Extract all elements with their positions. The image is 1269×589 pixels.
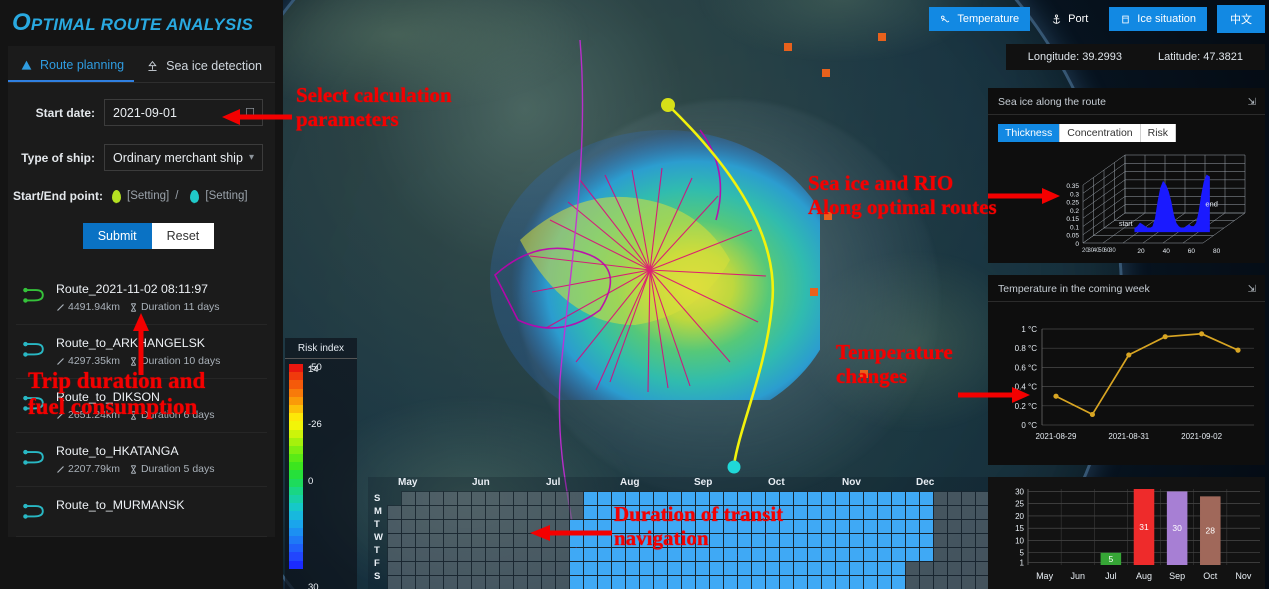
calendar-day-cell[interactable]	[766, 576, 779, 589]
calendar-day-cell[interactable]	[808, 492, 821, 505]
calendar-day-cell[interactable]	[822, 506, 835, 519]
calendar-day-cell[interactable]	[850, 576, 863, 589]
calendar-day-cell[interactable]	[500, 548, 513, 561]
route-name: Route_to_MURMANSK	[56, 498, 261, 512]
calendar-day-cell[interactable]	[500, 576, 513, 589]
calendar-day-cell[interactable]	[836, 492, 849, 505]
calendar-day-cell[interactable]	[528, 492, 541, 505]
calendar-day-cell[interactable]	[878, 548, 891, 561]
calendar-day-cell[interactable]	[696, 576, 709, 589]
risk-color-swatch	[289, 520, 303, 528]
calendar-day-cell[interactable]	[864, 576, 877, 589]
ship-type-value: Ordinary merchant ship	[113, 151, 243, 165]
calendar-day-cell[interactable]	[542, 506, 555, 519]
calendar-day-cell[interactable]	[416, 576, 429, 589]
toolbar-temperature-label: Temperature	[957, 13, 1019, 25]
calendar-day-cell[interactable]	[794, 492, 807, 505]
risk-color-swatch	[289, 364, 303, 372]
calendar-day-cell[interactable]	[626, 562, 639, 575]
calendar-day-cell[interactable]	[878, 520, 891, 533]
calendar-day-cell[interactable]	[514, 548, 527, 561]
calendar-day-cell[interactable]	[388, 562, 401, 575]
calendar-day-cell[interactable]	[892, 548, 905, 561]
calendar-day-cell[interactable]	[948, 534, 961, 547]
calendar-day-cell[interactable]	[794, 576, 807, 589]
calendar-day-cell[interactable]	[794, 548, 807, 561]
route-duration: Duration 11 days	[129, 301, 220, 313]
calendar-day-cell[interactable]	[906, 576, 919, 589]
risk-index-legend: Risk index -50 -26 0 14 30	[285, 338, 357, 589]
calendar-day-cell[interactable]	[654, 576, 667, 589]
calendar-day-cell[interactable]	[920, 548, 933, 561]
calendar-day-cell[interactable]	[514, 576, 527, 589]
route-meta: 4491.94kmDuration 11 days	[56, 301, 261, 313]
calendar-day-cell[interactable]	[514, 520, 527, 533]
seg-thickness[interactable]: Thickness	[998, 124, 1060, 142]
calendar-day-cell[interactable]	[878, 506, 891, 519]
annotation-select-parameters-line1: Select calculation	[296, 84, 452, 108]
svg-text:1 °C: 1 °C	[1021, 325, 1037, 334]
calendar-day-cell[interactable]	[514, 562, 527, 575]
seg-risk[interactable]: Risk	[1141, 124, 1176, 142]
calendar-day-cell[interactable]	[850, 506, 863, 519]
calendar-day-cell[interactable]	[794, 520, 807, 533]
calendar-weekday-label: T	[374, 544, 388, 557]
calendar-day-cell[interactable]	[710, 562, 723, 575]
risk-color-swatch	[289, 503, 303, 511]
svg-text:Nov: Nov	[1235, 571, 1252, 581]
calendar-day-cell[interactable]	[556, 576, 569, 589]
calendar-day-cell[interactable]	[934, 534, 947, 547]
calendar-month-label: Jul	[546, 477, 560, 488]
calendar-day-cell[interactable]	[402, 506, 415, 519]
calendar-day-cell[interactable]	[416, 548, 429, 561]
calendar-day-cell[interactable]	[850, 520, 863, 533]
calendar-day-cell[interactable]	[416, 562, 429, 575]
calendar-day-cell[interactable]	[430, 576, 443, 589]
latitude-value: Latitude: 47.3821	[1158, 51, 1243, 63]
calendar-day-cell[interactable]	[878, 562, 891, 575]
calendar-day-cell[interactable]	[472, 576, 485, 589]
calendar-day-cell[interactable]	[388, 492, 401, 505]
end-pin-icon[interactable]	[190, 190, 199, 203]
toolbar-ice-situation-button[interactable]: Ice situation	[1109, 7, 1207, 31]
calendar-day-cell[interactable]	[920, 520, 933, 533]
calendar-day-cell[interactable]	[962, 520, 975, 533]
calendar-day-cell[interactable]	[920, 534, 933, 547]
svg-text:25: 25	[1015, 500, 1024, 509]
calendar-day-cell[interactable]	[850, 548, 863, 561]
calendar-day-cell[interactable]	[668, 562, 681, 575]
route-list-item[interactable]: Route_to_MURMANSK	[16, 487, 267, 537]
calendar-day-cell[interactable]	[388, 548, 401, 561]
submit-button[interactable]: Submit	[83, 223, 152, 249]
calendar-day-cell[interactable]	[892, 492, 905, 505]
arrow-to-route-duration	[130, 313, 152, 375]
svg-text:0.1: 0.1	[1070, 224, 1079, 231]
calendar-day-cell[interactable]	[864, 548, 877, 561]
calendar-day-cell[interactable]	[906, 492, 919, 505]
calendar-day-cell[interactable]	[402, 520, 415, 533]
calendar-day-cell[interactable]	[472, 492, 485, 505]
calendar-day-cell[interactable]	[584, 492, 597, 505]
calendar-day-cell[interactable]	[528, 548, 541, 561]
ship-type-select[interactable]: Ordinary merchant ship ▾	[104, 144, 263, 171]
calendar-day-cell[interactable]	[500, 520, 513, 533]
distance-icon	[56, 465, 65, 474]
calendar-day-cell[interactable]	[458, 534, 471, 547]
calendar-day-cell[interactable]	[556, 562, 569, 575]
calendar-day-cell[interactable]	[444, 492, 457, 505]
calendar-day-cell[interactable]	[472, 562, 485, 575]
calendar-day-cell[interactable]	[612, 576, 625, 589]
calendar-day-cell[interactable]	[416, 534, 429, 547]
calendar-day-cell[interactable]	[850, 562, 863, 575]
calendar-day-cell[interactable]	[738, 576, 751, 589]
calendar-day-cell[interactable]	[962, 506, 975, 519]
calendar-day-cell[interactable]	[808, 520, 821, 533]
calendar-day-cell[interactable]	[430, 520, 443, 533]
calendar-day-cell[interactable]	[892, 506, 905, 519]
calendar-day-cell[interactable]	[514, 534, 527, 547]
calendar-day-cell[interactable]	[402, 534, 415, 547]
calendar-day-cell[interactable]	[766, 562, 779, 575]
calendar-day-cell[interactable]	[472, 534, 485, 547]
calendar-day-cell[interactable]	[626, 576, 639, 589]
calendar-day-cell[interactable]	[752, 562, 765, 575]
calendar-day-cell[interactable]	[444, 562, 457, 575]
calendar-day-cell[interactable]	[486, 576, 499, 589]
calendar-day-cell[interactable]	[836, 534, 849, 547]
tab-sea-ice-detection-label: Sea ice detection	[166, 59, 262, 73]
panel-tabs: Route planning Sea ice detection	[8, 46, 275, 83]
calendar-day-cell[interactable]	[808, 562, 821, 575]
calendar-day-cell[interactable]	[906, 548, 919, 561]
calendar-day-cell[interactable]	[500, 492, 513, 505]
annotation-trip-duration-line2: fuel consumption	[28, 394, 205, 420]
calendar-day-cell[interactable]	[962, 548, 975, 561]
calendar-day-cell[interactable]	[864, 506, 877, 519]
calendar-day-cell[interactable]	[808, 506, 821, 519]
calendar-day-cell[interactable]	[906, 562, 919, 575]
calendar-day-cell[interactable]	[836, 520, 849, 533]
calendar-day-cell[interactable]	[444, 534, 457, 547]
calendar-day-cell[interactable]	[402, 576, 415, 589]
calendar-day-cell[interactable]	[472, 548, 485, 561]
calendar-day-cell[interactable]	[822, 548, 835, 561]
calendar-day-cell[interactable]	[850, 534, 863, 547]
calendar-day-cell[interactable]	[388, 520, 401, 533]
calendar-day-cell[interactable]	[570, 548, 583, 561]
calendar-day-cell[interactable]	[514, 506, 527, 519]
route-distance: 2207.79km	[56, 463, 120, 475]
calendar-day-cell[interactable]	[654, 562, 667, 575]
calendar-day-cell[interactable]	[388, 534, 401, 547]
calendar-day-cell[interactable]	[486, 506, 499, 519]
calendar-day-cell[interactable]	[472, 506, 485, 519]
calendar-day-cell[interactable]	[808, 548, 821, 561]
calendar-day-cell[interactable]	[906, 520, 919, 533]
calendar-day-cell[interactable]	[948, 576, 961, 589]
calendar-day-cell[interactable]	[584, 548, 597, 561]
expand-icon[interactable]: ⇲	[1248, 97, 1255, 108]
start-pin-icon[interactable]	[112, 190, 121, 203]
calendar-day-cell[interactable]	[710, 576, 723, 589]
calendar-day-cell[interactable]	[388, 506, 401, 519]
calendar-day-cell[interactable]	[402, 548, 415, 561]
toolbar-port-button[interactable]: Port	[1040, 7, 1099, 31]
calendar-day-cell[interactable]	[682, 562, 695, 575]
calendar-day-cell[interactable]	[500, 562, 513, 575]
ship-type-label: Type of ship:	[8, 151, 104, 165]
seg-concentration[interactable]: Concentration	[1060, 124, 1140, 142]
calendar-day-cell[interactable]	[528, 506, 541, 519]
calendar-day-cell[interactable]	[528, 562, 541, 575]
calendar-weekday-label: W	[374, 531, 388, 544]
calendar-day-cell[interactable]	[878, 492, 891, 505]
arrow-to-start-date	[222, 106, 294, 128]
calendar-day-cell[interactable]	[822, 520, 835, 533]
calendar-day-cell[interactable]	[500, 534, 513, 547]
calendar-day-cell[interactable]	[892, 576, 905, 589]
calendar-day-cell[interactable]	[780, 576, 793, 589]
calendar-month-label: Oct	[768, 477, 785, 488]
calendar-day-cell[interactable]	[752, 576, 765, 589]
calendar-day-cell[interactable]	[948, 548, 961, 561]
calendar-day-cell[interactable]	[584, 576, 597, 589]
sea-ice-panel: Sea ice along the route ⇲ Thickness Conc…	[988, 88, 1265, 263]
tab-route-planning[interactable]: Route planning	[8, 49, 134, 82]
navigable-days-bar-chart[interactable]: 151015202530MayJun5Jul31Aug30Sep28OctNov	[988, 477, 1265, 589]
calendar-day-cell[interactable]	[430, 492, 443, 505]
svg-text:Oct: Oct	[1203, 571, 1218, 581]
svg-text:2021-08-31: 2021-08-31	[1108, 432, 1149, 441]
calendar-day-cell[interactable]	[402, 492, 415, 505]
calendar-day-cell[interactable]	[556, 548, 569, 561]
calendar-day-cell[interactable]	[934, 576, 947, 589]
calendar-day-cell[interactable]	[430, 534, 443, 547]
calendar-day-cell[interactable]	[598, 492, 611, 505]
calendar-day-cell[interactable]	[542, 562, 555, 575]
calendar-day-cell[interactable]	[864, 534, 877, 547]
calendar-month-labels: MayJunJulAugSepOctNovDec	[392, 477, 992, 492]
calendar-day-cell[interactable]	[542, 492, 555, 505]
sea-ice-panel-title: Sea ice along the route	[998, 96, 1106, 108]
annotation-transit-navigation-line2: navigation	[614, 527, 783, 551]
calendar-day-cell[interactable]	[864, 562, 877, 575]
toolbar-port-label: Port	[1068, 13, 1088, 25]
svg-text:Aug: Aug	[1136, 571, 1152, 581]
calendar-day-cell[interactable]	[416, 492, 429, 505]
calendar-day-cell[interactable]	[920, 492, 933, 505]
calendar-day-cell[interactable]	[878, 534, 891, 547]
calendar-day-cell[interactable]	[430, 562, 443, 575]
calendar-day-cell[interactable]	[962, 562, 975, 575]
app-brand: OPTIMAL ROUTE ANALYSIS	[0, 0, 283, 44]
calendar-day-cell[interactable]	[486, 534, 499, 547]
calendar-day-cell[interactable]	[444, 576, 457, 589]
end-point-setting[interactable]: [Setting]	[205, 190, 247, 202]
calendar-day-cell[interactable]	[444, 506, 457, 519]
calendar-day-cell[interactable]	[416, 520, 429, 533]
calendar-day-cell[interactable]	[794, 534, 807, 547]
calendar-day-cell[interactable]	[640, 576, 653, 589]
calendar-day-cell[interactable]	[878, 576, 891, 589]
svg-text:0: 0	[1075, 241, 1079, 248]
calendar-day-cell[interactable]	[948, 562, 961, 575]
calendar-day-cell[interactable]	[584, 562, 597, 575]
calendar-day-cell[interactable]	[402, 562, 415, 575]
calendar-day-cell[interactable]	[836, 506, 849, 519]
calendar-day-cell[interactable]	[822, 562, 835, 575]
calendar-weekday-label: F	[374, 557, 388, 570]
calendar-day-cell[interactable]	[780, 562, 793, 575]
calendar-day-cell[interactable]	[430, 548, 443, 561]
calendar-day-cell[interactable]	[598, 562, 611, 575]
calendar-day-cell[interactable]	[962, 534, 975, 547]
longitude-value: Longitude: 39.2993	[1028, 51, 1122, 63]
calendar-day-cell[interactable]	[570, 506, 583, 519]
left-control-panel: OPTIMAL ROUTE ANALYSIS Route planning Se…	[0, 0, 283, 589]
calendar-day-cell[interactable]	[724, 562, 737, 575]
start-point-setting[interactable]: [Setting]	[127, 190, 169, 202]
annotation-sea-ice-rio-line1: Sea ice and RIO	[808, 172, 997, 196]
route-duration: Duration 5 days	[129, 463, 215, 475]
calendar-day-cell[interactable]	[934, 492, 947, 505]
calendar-day-cell[interactable]	[542, 576, 555, 589]
calendar-day-cell[interactable]	[458, 562, 471, 575]
tab-sea-ice-detection[interactable]: Sea ice detection	[134, 49, 272, 82]
calendar-day-cell[interactable]	[458, 548, 471, 561]
calendar-day-cell[interactable]	[934, 506, 947, 519]
calendar-day-cell[interactable]	[472, 520, 485, 533]
calendar-day-cell[interactable]	[570, 562, 583, 575]
calendar-day-cell[interactable]	[556, 492, 569, 505]
calendar-day-cell[interactable]	[416, 506, 429, 519]
calendar-day-cell[interactable]	[598, 506, 611, 519]
svg-text:40: 40	[1163, 248, 1171, 255]
calendar-day-cell[interactable]	[948, 492, 961, 505]
calendar-day-cell[interactable]	[598, 548, 611, 561]
calendar-day-cell[interactable]	[570, 576, 583, 589]
calendar-day-cell[interactable]	[836, 548, 849, 561]
calendar-day-cell[interactable]	[934, 520, 947, 533]
calendar-weekday-label: M	[374, 505, 388, 518]
calendar-day-cell[interactable]	[696, 562, 709, 575]
calendar-day-cell[interactable]	[920, 562, 933, 575]
calendar-day-cell[interactable]	[906, 506, 919, 519]
svg-text:60: 60	[1188, 248, 1196, 255]
reset-button[interactable]: Reset	[152, 223, 215, 249]
calendar-day-cell[interactable]	[570, 492, 583, 505]
calendar-day-cell[interactable]	[430, 506, 443, 519]
calendar-day-cell[interactable]	[822, 492, 835, 505]
calendar-month-label: May	[398, 477, 417, 488]
calendar-day-cell[interactable]	[920, 576, 933, 589]
route-list-item[interactable]: Route_to_HKATANGA2207.79kmDuration 5 day…	[16, 433, 267, 487]
calendar-day-cell[interactable]	[486, 492, 499, 505]
calendar-day-cell[interactable]	[598, 576, 611, 589]
calendar-day-cell[interactable]	[864, 492, 877, 505]
calendar-day-cell[interactable]	[794, 562, 807, 575]
svg-text:15: 15	[1015, 524, 1024, 533]
calendar-day-cell[interactable]	[500, 506, 513, 519]
calendar-day-cell[interactable]	[542, 548, 555, 561]
toolbar-temperature-button[interactable]: Temperature	[929, 7, 1030, 31]
calendar-day-cell[interactable]	[822, 534, 835, 547]
temperature-panel-title: Temperature in the coming week	[998, 283, 1150, 295]
calendar-day-cell[interactable]	[458, 492, 471, 505]
calendar-day-cell[interactable]	[612, 562, 625, 575]
annotation-sea-ice-rio-line2: Along optimal routes	[808, 196, 997, 220]
navigable-days-panel: 151015202530MayJun5Jul31Aug30Sep28OctNov	[988, 477, 1265, 589]
calendar-day-cell[interactable]	[850, 492, 863, 505]
svg-text:0.15: 0.15	[1066, 216, 1079, 223]
calendar-day-cell[interactable]	[486, 562, 499, 575]
calendar-day-cell[interactable]	[486, 548, 499, 561]
calendar-day-cell[interactable]	[836, 576, 849, 589]
calendar-day-cell[interactable]	[892, 520, 905, 533]
calendar-day-cell[interactable]	[514, 492, 527, 505]
hourglass-icon	[129, 465, 138, 474]
toolbar-language-button[interactable]: 中文	[1217, 5, 1265, 33]
calendar-day-cell[interactable]	[682, 576, 695, 589]
expand-icon[interactable]: ⇲	[1248, 284, 1255, 295]
calendar-day-cell[interactable]	[458, 576, 471, 589]
calendar-day-cell[interactable]	[962, 492, 975, 505]
risk-label-1: -26	[308, 419, 322, 430]
calendar-day-cell[interactable]	[920, 506, 933, 519]
calendar-day-cell[interactable]	[444, 548, 457, 561]
calendar-day-cell[interactable]	[724, 576, 737, 589]
calendar-day-cell[interactable]	[892, 562, 905, 575]
calendar-day-cell[interactable]	[836, 562, 849, 575]
svg-text:80: 80	[1213, 248, 1221, 255]
route-distance: 4297.35km	[56, 355, 120, 367]
calendar-day-cell[interactable]	[556, 506, 569, 519]
svg-text:1: 1	[1020, 559, 1025, 568]
calendar-day-cell[interactable]	[794, 506, 807, 519]
calendar-day-cell[interactable]	[934, 548, 947, 561]
route-name: Route_to_HKATANGA	[56, 444, 261, 458]
hourglass-icon	[129, 303, 138, 312]
calendar-day-cell[interactable]	[864, 520, 877, 533]
calendar-day-cell[interactable]	[934, 562, 947, 575]
calendar-day-cell[interactable]	[808, 576, 821, 589]
form-buttons: Submit Reset	[8, 221, 263, 265]
calendar-day-cell[interactable]	[584, 506, 597, 519]
calendar-day-cell[interactable]	[458, 506, 471, 519]
calendar-day-cell[interactable]	[458, 520, 471, 533]
calendar-day-cell[interactable]	[808, 534, 821, 547]
calendar-day-cell[interactable]	[948, 506, 961, 519]
calendar-day-cell[interactable]	[962, 576, 975, 589]
calendar-day-cell[interactable]	[388, 576, 401, 589]
risk-color-swatch	[289, 479, 303, 487]
calendar-day-cell[interactable]	[528, 576, 541, 589]
calendar-day-cell[interactable]	[486, 520, 499, 533]
calendar-day-cell[interactable]	[668, 576, 681, 589]
calendar-day-cell[interactable]	[640, 562, 653, 575]
calendar-day-cell[interactable]	[444, 520, 457, 533]
calendar-day-cell[interactable]	[892, 534, 905, 547]
calendar-day-cell[interactable]	[822, 576, 835, 589]
svg-text:Sep: Sep	[1169, 571, 1185, 581]
sea-ice-detection-icon	[146, 60, 159, 73]
calendar-day-cell[interactable]	[738, 562, 751, 575]
calendar-day-cell[interactable]	[906, 534, 919, 547]
calendar-day-cell[interactable]	[948, 520, 961, 533]
